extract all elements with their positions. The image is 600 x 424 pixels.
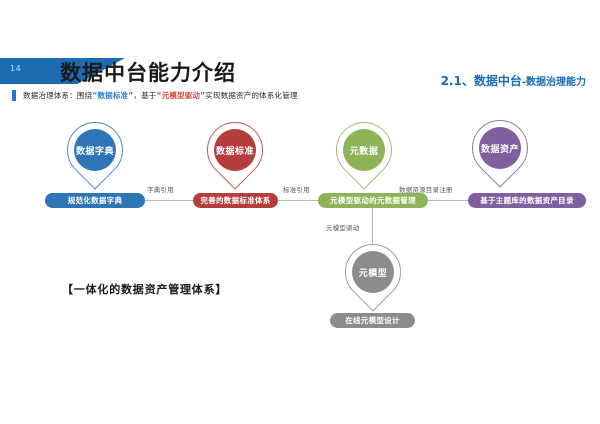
page-number: 14 [10,64,21,73]
connector-line-4 [372,208,373,244]
pin-disc: 元模型 [352,251,394,293]
bar-normalized-dictionary[interactable]: 规范化数据字典 [45,193,145,208]
subtitle-text: 数据治理体系：围绕“数据标准”，基于“元模型驱动”实现数据资产的体系化管理 [23,90,298,101]
subtitle-mid: ，基于 [133,91,156,100]
footnote-text: 【一体化的数据资产管理体系】 [62,281,227,297]
bar-label: 在线元模型设计 [345,315,400,326]
pin-data-dictionary[interactable]: 数据字典 [63,120,127,196]
connector-label-1: 字典引用 [147,184,174,194]
pin-label: 数据资产 [481,142,519,155]
slide-header: 14 数据中台能力介绍 2.1、数据中台-数据治理能力 [0,28,600,68]
subtitle-tail: 实现数据资产的体系化管理 [205,91,297,100]
section-sub-label: -数据治理能力 [522,77,586,88]
section-label: 2.1、数据中台-数据治理能力 [441,72,586,89]
connector-line-1 [145,200,193,201]
subtitle-highlight-2: “元模型驱动” [156,91,205,100]
bar-label: 完善的数据标准体系 [200,195,270,206]
page-title: 数据中台能力介绍 [60,57,236,87]
bar-asset-catalog[interactable]: 基于主题库的数据资产目录 [468,193,586,208]
pin-label: 数据标准 [216,144,254,157]
pin-metadata[interactable]: 元数据 [332,120,396,196]
bar-label: 规范化数据字典 [68,195,123,206]
bar-metadata-management[interactable]: 元模型驱动的元数据管理 [318,193,428,208]
pin-data-standard[interactable]: 数据标准 [203,120,267,196]
bar-online-metamodel-design[interactable]: 在线元模型设计 [330,313,415,328]
pin-disc: 数据资产 [479,127,521,169]
pin-label: 元模型 [359,266,388,279]
section-main-label: 2.1、数据中台 [441,74,522,88]
pin-disc: 数据标准 [214,129,256,171]
bar-label: 元模型驱动的元数据管理 [330,195,416,206]
pin-meta-model[interactable]: 元模型 [341,242,405,318]
connector-line-3 [428,200,468,201]
connector-label-2: 标准引用 [283,184,310,194]
subtitle-row: 数据治理体系：围绕“数据标准”，基于“元模型驱动”实现数据资产的体系化管理 [12,88,298,102]
subtitle-lead: 数据治理体系：围绕 [23,91,92,100]
bullet-tick-icon [12,90,16,101]
subtitle-highlight-1: “数据标准” [92,91,133,100]
connector-label-4: 元模型驱动 [326,222,360,232]
connector-line-2 [278,200,318,201]
pin-label: 数据字典 [76,144,114,157]
pin-data-asset[interactable]: 数据资产 [468,118,532,194]
bar-label: 基于主题库的数据资产目录 [480,195,574,206]
bar-standard-system[interactable]: 完善的数据标准体系 [193,193,278,208]
pin-disc: 数据字典 [74,129,116,171]
pin-label: 元数据 [350,144,379,157]
pin-disc: 元数据 [343,129,385,171]
slide-canvas: 14 数据中台能力介绍 2.1、数据中台-数据治理能力 数据治理体系：围绕“数据… [0,0,600,424]
